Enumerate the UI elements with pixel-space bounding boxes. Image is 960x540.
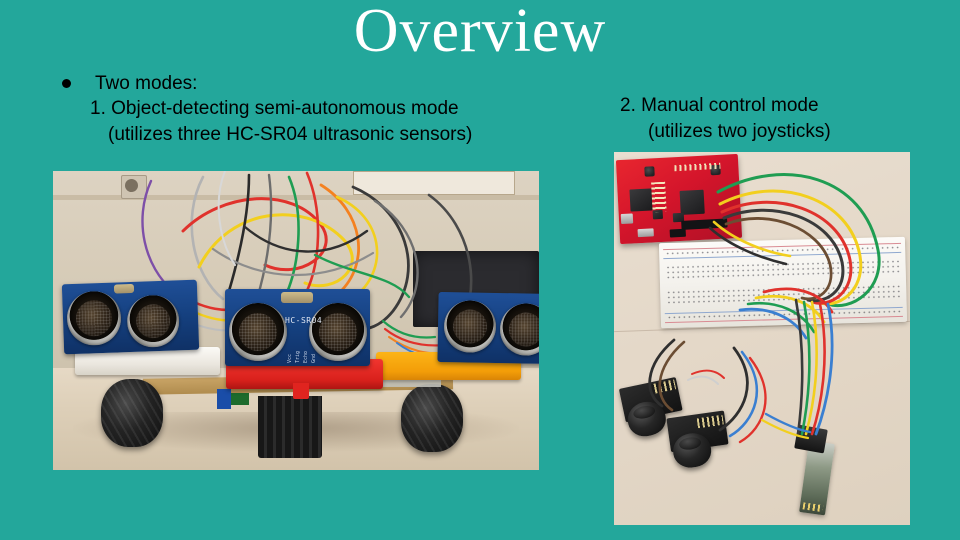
pin-label-trig: Trig xyxy=(295,351,301,363)
transducer-can xyxy=(229,303,287,361)
pin-label-gnd: Gnd xyxy=(311,354,317,363)
ultrasonic-sensor-center: HC-SR04 Vcc Trig Echo Gnd xyxy=(225,289,370,366)
transducer-can xyxy=(126,294,180,348)
green-module xyxy=(231,393,249,405)
crystal-oscillator xyxy=(281,292,313,303)
bullet-label-two-modes: Two modes: xyxy=(62,73,197,94)
robot-car-photo: HC-SR04 Vcc Trig Echo Gnd xyxy=(53,171,539,470)
mode-2-title: 2. Manual control mode xyxy=(620,93,940,119)
bullet-row-two-modes: Two modes: xyxy=(62,71,582,96)
ultrasonic-sensor-right xyxy=(437,292,539,364)
pin-label-echo: Echo xyxy=(303,351,309,363)
wheel-right xyxy=(401,384,463,452)
transducer-mesh xyxy=(319,313,357,351)
mode-2-detail: (utilizes two joysticks) xyxy=(620,119,940,145)
mode-1-title: 1. Object-detecting semi-autonomous mode xyxy=(62,96,582,122)
transducer-mesh xyxy=(239,313,277,351)
jumper-wire-bundle xyxy=(614,152,910,525)
left-text-block: Two modes: 1. Object-detecting semi-auto… xyxy=(62,71,582,148)
sensor-silkscreen-label: HC-SR04 xyxy=(285,316,322,325)
joystick-rig-photo xyxy=(614,152,910,525)
right-text-block: 2. Manual control mode (utilizes two joy… xyxy=(620,93,940,145)
presentation-slide: Overview Two modes: 1. Object-detecting … xyxy=(0,0,960,540)
mode-1-detail: (utilizes three HC-SR04 ultrasonic senso… xyxy=(62,122,582,148)
page-title: Overview xyxy=(0,0,960,64)
transducer-can xyxy=(66,290,122,346)
transducer-mesh xyxy=(136,304,171,339)
transducer-can xyxy=(444,300,497,353)
wheel-left xyxy=(101,379,163,447)
transducer-mesh xyxy=(509,312,539,347)
bullet-dot-icon xyxy=(62,79,71,88)
ultrasonic-sensor-left xyxy=(62,280,199,355)
sensor-bracket-red-tab xyxy=(293,383,309,399)
motor-driver-heatsink xyxy=(258,396,322,458)
blue-module xyxy=(217,389,231,409)
transducer-mesh xyxy=(75,300,112,337)
crystal-oscillator xyxy=(114,284,134,294)
transducer-mesh xyxy=(453,309,488,344)
pin-label-vcc: Vcc xyxy=(287,354,293,363)
transducer-can xyxy=(500,303,539,356)
transducer-can xyxy=(309,303,367,361)
